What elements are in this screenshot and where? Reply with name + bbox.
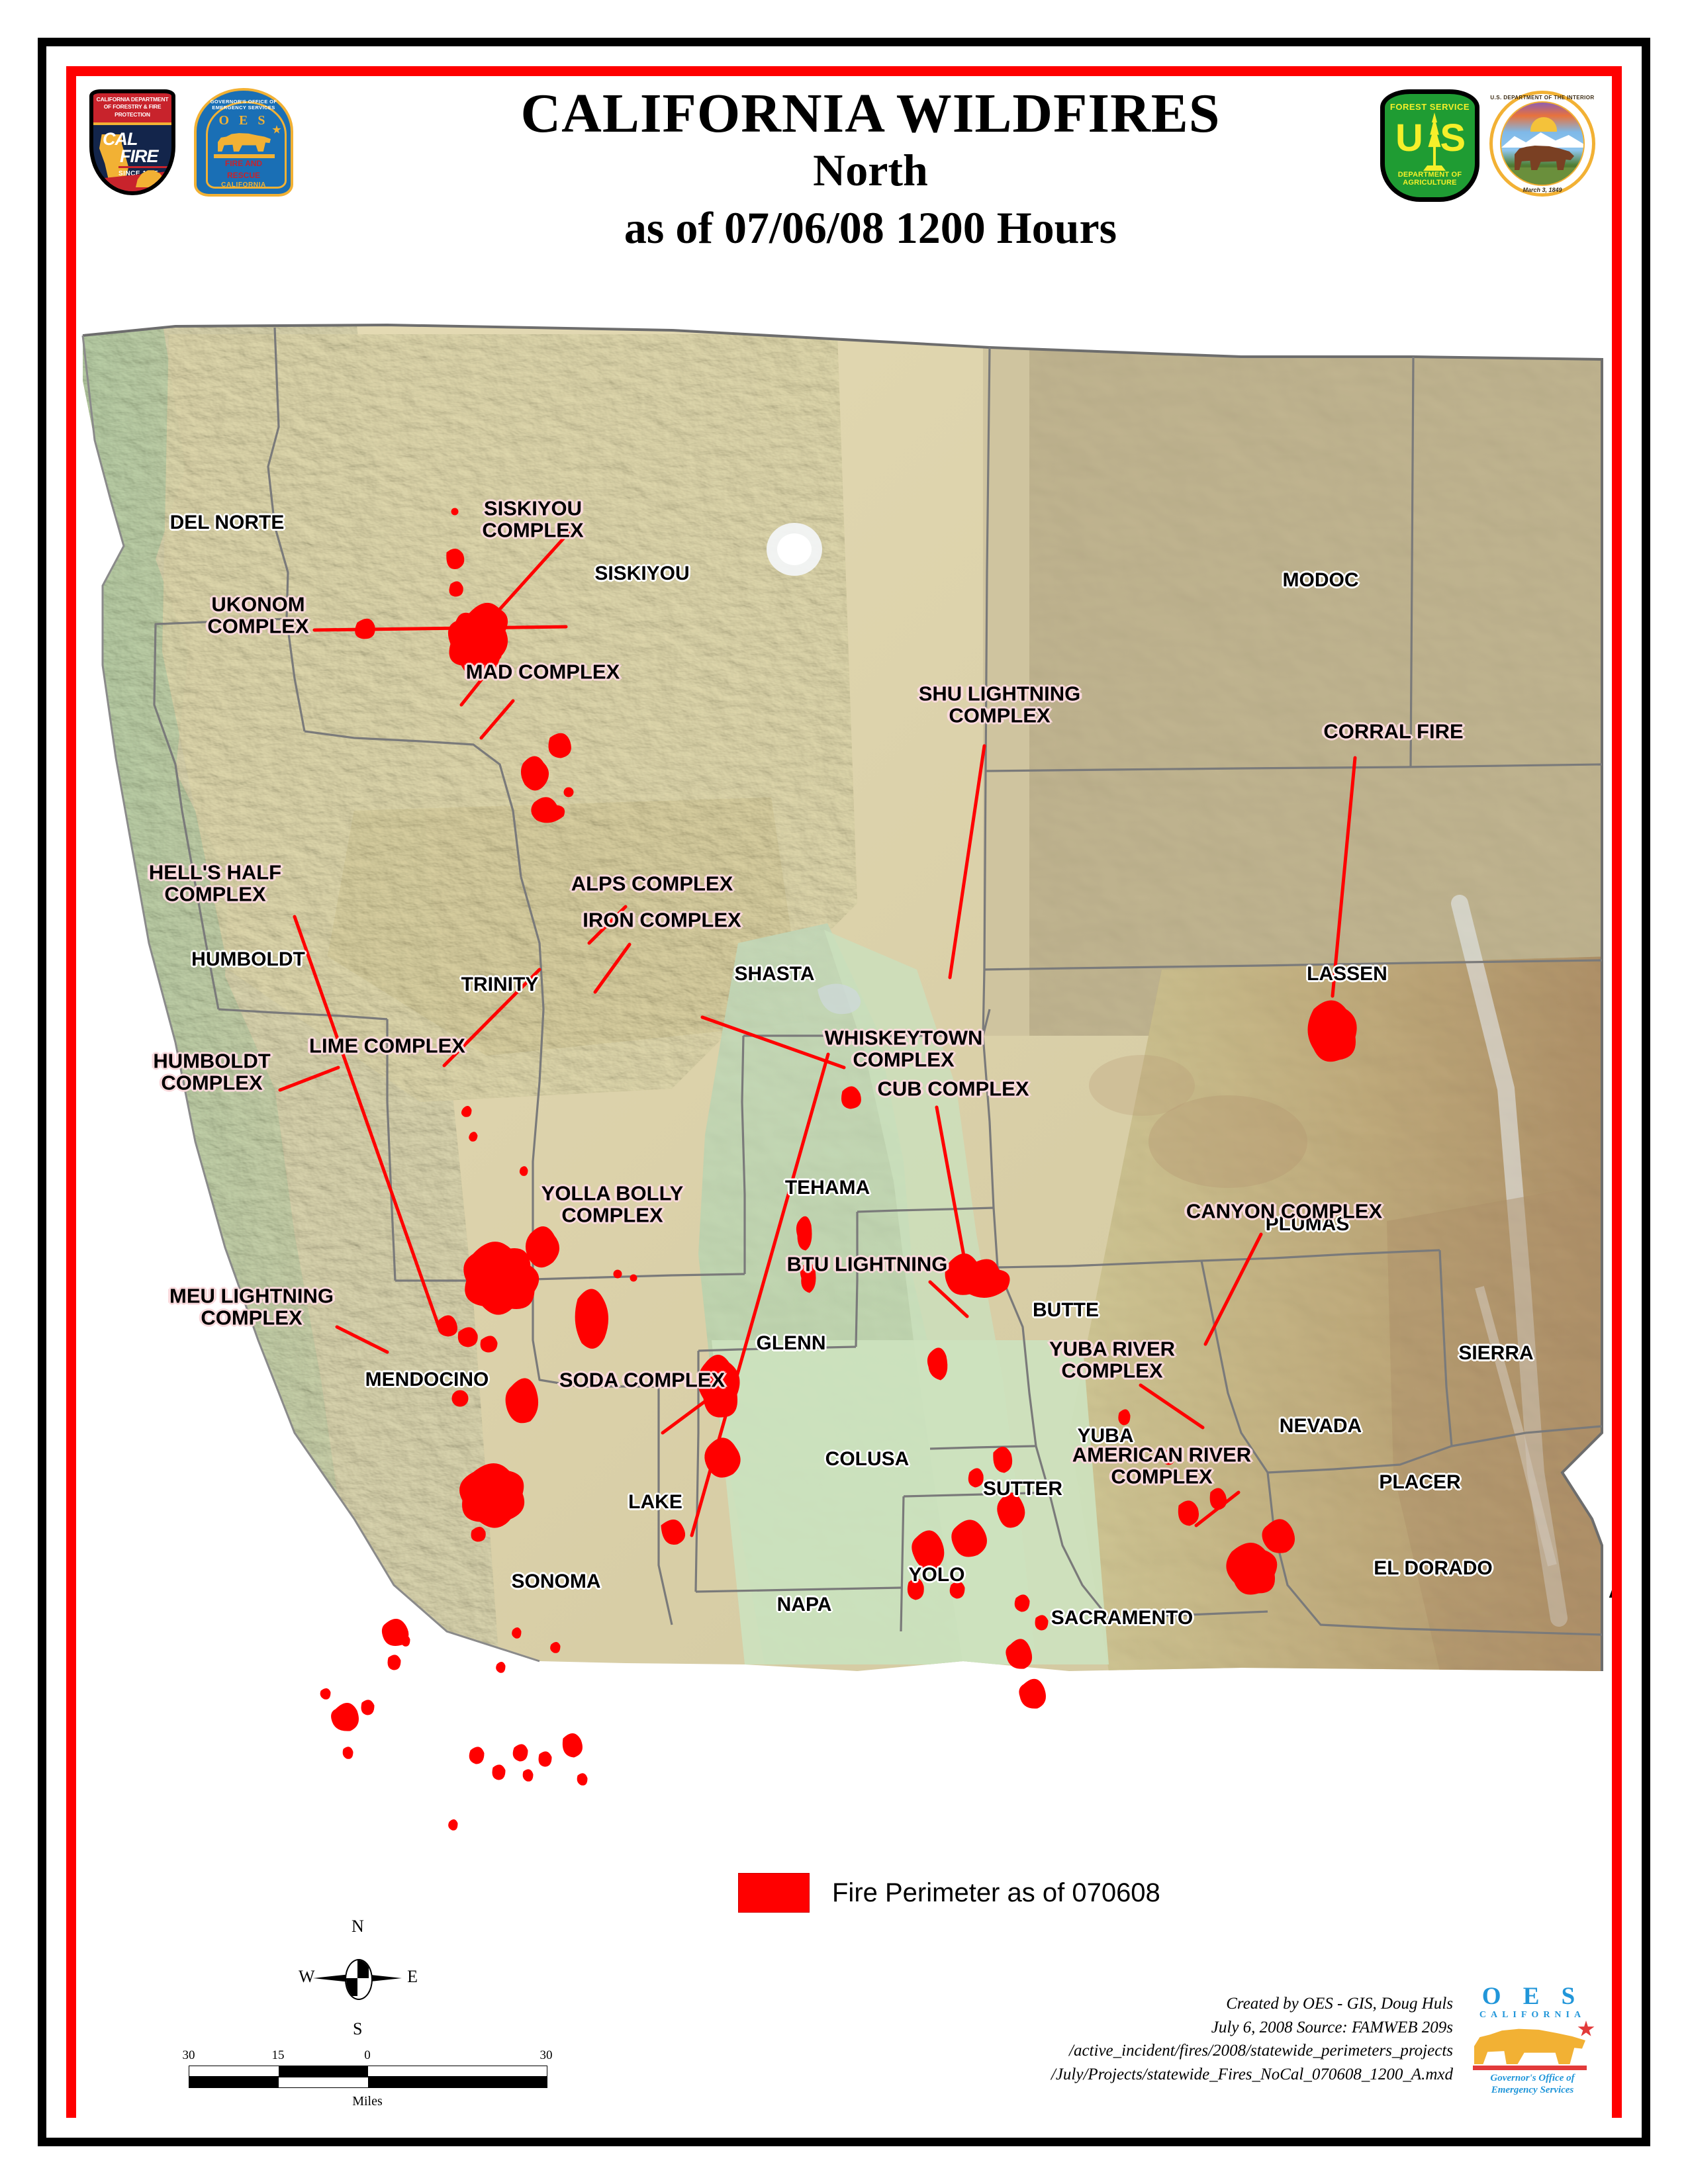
scale-tick-label: 30 [540, 2048, 553, 2063]
credits-line-2: July 6, 2008 Source: FAMWEB 209s [1051, 2016, 1453, 2040]
compass-north-label: N [352, 1917, 364, 1936]
northern-california-relief-map [76, 308, 1612, 1850]
oes-small-monogram: O E S [1466, 1982, 1599, 2011]
compass-south-label: S [353, 2019, 362, 2039]
title-sub: North [407, 143, 1334, 198]
fire-perimeter-swatch [738, 1873, 810, 1913]
credits-line-3: /active_incident/fires/2008/statewide_pe… [1051, 2039, 1453, 2063]
poster-header: CALIFORNIA DEPARTMENT OF FORESTRY & FIRE… [76, 76, 1612, 308]
cal-fire-logo: CALIFORNIA DEPARTMENT OF FORESTRY & FIRE… [89, 89, 175, 195]
oes-small-tagline: Governor's Office of Emergency Services [1466, 2072, 1599, 2096]
compass-center-ellipse [345, 1959, 373, 2000]
doi-top-text: U.S. DEPARTMENT OF THE INTERIOR [1489, 95, 1595, 101]
oes-tagline-line1: Governor's Office of [1466, 2072, 1599, 2084]
credits-block: Created by OES - GIS, Doug Huls July 6, … [1051, 1992, 1453, 2086]
scale-bar-row-bottom [189, 2077, 547, 2088]
cal-fire-word-fire: FIRE [120, 146, 158, 167]
compass-rose: N S W E [301, 1919, 414, 2035]
star-icon [1577, 2021, 1595, 2038]
bear-icon [1474, 2023, 1585, 2064]
map-bottom-panel: Fire Perimeter as of 070608 N S W E 3015… [76, 1850, 1612, 2118]
us-department-interior-seal: U.S. DEPARTMENT OF THE INTERIOR March 3,… [1489, 91, 1595, 197]
credits-line-1: Created by OES - GIS, Doug Huls [1051, 1992, 1453, 2016]
compass-east-label: E [407, 1967, 418, 1987]
doi-date-text: March 3, 1849 [1489, 187, 1595, 193]
scale-bar: 3015030 Miles [189, 2048, 546, 2109]
map-canvas[interactable]: DEL NORTESISKIYOUMODOCHUMBOLDTTRINITYSHA… [76, 308, 1612, 1850]
mountains-icon [1501, 129, 1583, 148]
oes-agency-logo: O E S CALIFORNIA Governor's Office of Em… [1466, 1982, 1599, 2095]
oes-rescue: RESCUE [197, 171, 291, 180]
legend-label: Fire Perimeter as of 070608 [832, 1878, 1160, 1908]
usfs-top-text: FOREST SERVICE [1385, 102, 1475, 112]
title-main: CALIFORNIA WILDFIRES [407, 84, 1334, 143]
scale-tick-label: 15 [272, 2048, 285, 2063]
oes-fire-rescue-logo: GOVERNOR'S OFFICE OF EMERGENCY SERVICES … [194, 88, 293, 197]
page-title: CALIFORNIA WILDFIRES North as of 07/06/0… [407, 84, 1334, 259]
scale-bar-ticks: 3015030 [189, 2048, 546, 2066]
scale-bar-row-top [189, 2066, 547, 2077]
scale-tick-label: 30 [183, 2048, 195, 2063]
oes-small-california: CALIFORNIA [1466, 2010, 1599, 2021]
compass-west-label: W [299, 1967, 315, 1987]
legend: Fire Perimeter as of 070608 [738, 1873, 1160, 1913]
usfs-bottom-text: DEPARTMENT OF AGRICULTURE [1385, 171, 1475, 187]
scale-tick-label: 0 [364, 2048, 371, 2063]
wildfire-map-poster: CALIFORNIA DEPARTMENT OF FORESTRY & FIRE… [0, 0, 1688, 2184]
sun-icon [1530, 117, 1557, 132]
oes-fire-and: FIRE AND [197, 159, 291, 168]
oes-tagline-line2: Emergency Services [1466, 2084, 1599, 2096]
oes-arc-text: GOVERNOR'S OFFICE OF EMERGENCY SERVICES [197, 99, 291, 111]
scale-bar-unit: Miles [189, 2094, 546, 2109]
us-forest-service-logo: FOREST SERVICE U S DEPARTMENT OF AGRICUL… [1380, 89, 1479, 202]
credits-line-4: /July/Projects/statewide_Fires_NoCal_070… [1051, 2063, 1453, 2087]
oes-california: CALIFORNIA [197, 181, 291, 189]
title-date: as of 07/06/08 1200 Hours [407, 198, 1334, 259]
cal-fire-top-text: CALIFORNIA DEPARTMENT OF FORESTRY & FIRE… [93, 96, 171, 118]
